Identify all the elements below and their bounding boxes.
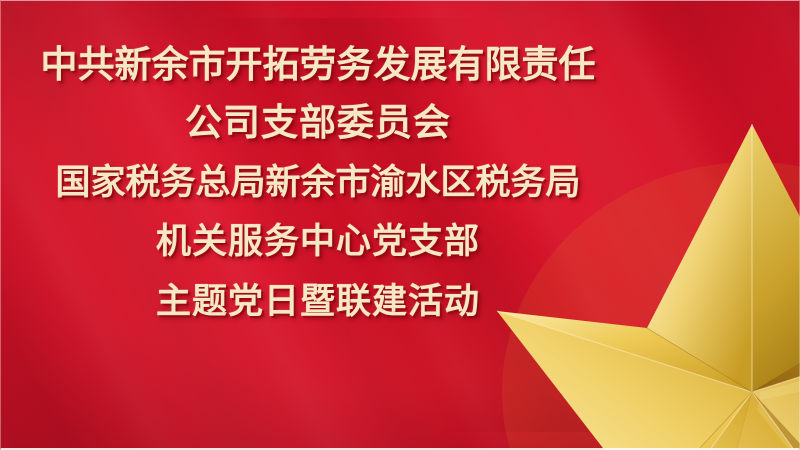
banner-backdrop: 中共新余市开拓劳务发展有限责任 公司支部委员会 国家税务总局新余市渝水区税务局 …	[0, 0, 800, 450]
title-line-2: 公司支部委员会	[0, 92, 636, 154]
title-line-3: 国家税务总局新余市渝水区税务局	[0, 154, 636, 212]
title-line-4: 机关服务中心党支部	[0, 212, 636, 272]
title-line-1: 中共新余市开拓劳务发展有限责任	[0, 38, 636, 92]
banner-title-block: 中共新余市开拓劳务发展有限责任 公司支部委员会 国家税务总局新余市渝水区税务局 …	[0, 38, 636, 332]
title-line-5: 主题党日暨联建活动	[0, 272, 636, 332]
